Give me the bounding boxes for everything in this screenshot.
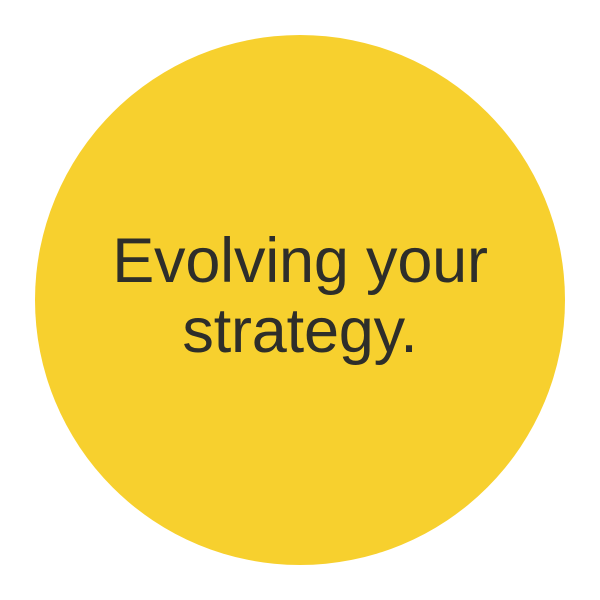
headline-block: Evolving your strategy.	[35, 35, 565, 565]
headline-line-2: strategy.	[112, 296, 488, 366]
headline-line-1: Evolving your	[112, 226, 488, 296]
slide-canvas: Evolving your strategy.	[0, 0, 600, 600]
headline-lines: Evolving your strategy.	[112, 226, 488, 366]
